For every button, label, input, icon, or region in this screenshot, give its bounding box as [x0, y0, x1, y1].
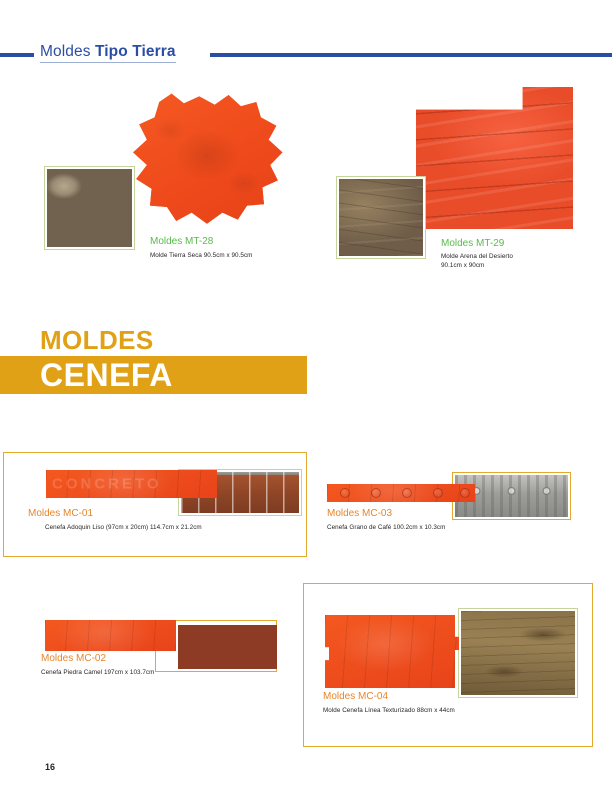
coffee-bean-icon: [433, 488, 443, 498]
mc02-thumbnail-box: [178, 625, 277, 669]
mc03-mold-strip: [327, 484, 475, 502]
section-header: Moldes Tipo Tierra: [0, 43, 612, 65]
mt28-mold-shape: [130, 88, 284, 228]
mt28-thumbnail-box: [44, 166, 135, 250]
mc04-thumbnail-box: [458, 608, 578, 698]
mt28-code-label: Moldes MT-28: [150, 236, 213, 248]
section-title-line1: MOLDES: [40, 325, 154, 355]
arena-desierto-texture: [339, 179, 423, 256]
mc03-desc-label: Cenefa Grano de Café 100.2cm x 10.3cm: [327, 523, 445, 532]
tierra-seca-texture: [47, 169, 132, 247]
header-rule-left: [0, 53, 34, 57]
mc04-mold-shape: [325, 615, 459, 688]
mc01-watermark: CONCRETO: [52, 476, 162, 493]
mc04-code-label: Moldes MC-04: [323, 691, 388, 703]
mc02-code-label: Moldes MC-02: [41, 653, 106, 665]
coffee-bean-icon: [460, 488, 470, 498]
coffee-bean-icon: [402, 488, 412, 498]
mc04-desc-label: Molde Cenefa Línea Texturizado 88cm x 44…: [323, 706, 455, 715]
page-title-light: Moldes: [40, 43, 95, 60]
page-title-bold: Tipo Tierra: [95, 43, 176, 60]
mc02-mold-strip: [45, 620, 176, 651]
page-number: 16: [45, 762, 55, 772]
mc03-code-label: Moldes MC-03: [327, 508, 392, 520]
mt29-thumbnail-box: [336, 176, 426, 259]
mc01-code-label: Moldes MC-01: [28, 508, 93, 520]
mc01-mold-strip: CONCRETO: [46, 470, 217, 498]
section-title-line2: CENEFA: [40, 358, 173, 393]
mc02-desc-label: Cenefa Piedra Camel 197cm x 103.7cm: [41, 668, 154, 677]
linea-texturizado-texture: [461, 611, 575, 695]
page-title: Moldes Tipo Tierra: [40, 43, 176, 63]
header-rule-right: [210, 53, 612, 57]
mt29-desc-label: Molde Arena del Desierto 90.1cm x 90cm: [441, 252, 513, 270]
mt28-desc-label: Molde Tierra Seca 90.5cm x 90.5cm: [150, 251, 252, 260]
coffee-bean-icon: [371, 488, 381, 498]
mt29-code-label: Moldes MT-29: [441, 238, 504, 250]
coffee-bean-icon: [340, 488, 350, 498]
mt29-mold-shape: [416, 87, 573, 229]
mc01-desc-label: Cenefa Adoquin Liso (97cm x 20cm) 114.7c…: [45, 523, 202, 532]
piedra-camel-texture: [178, 625, 277, 669]
